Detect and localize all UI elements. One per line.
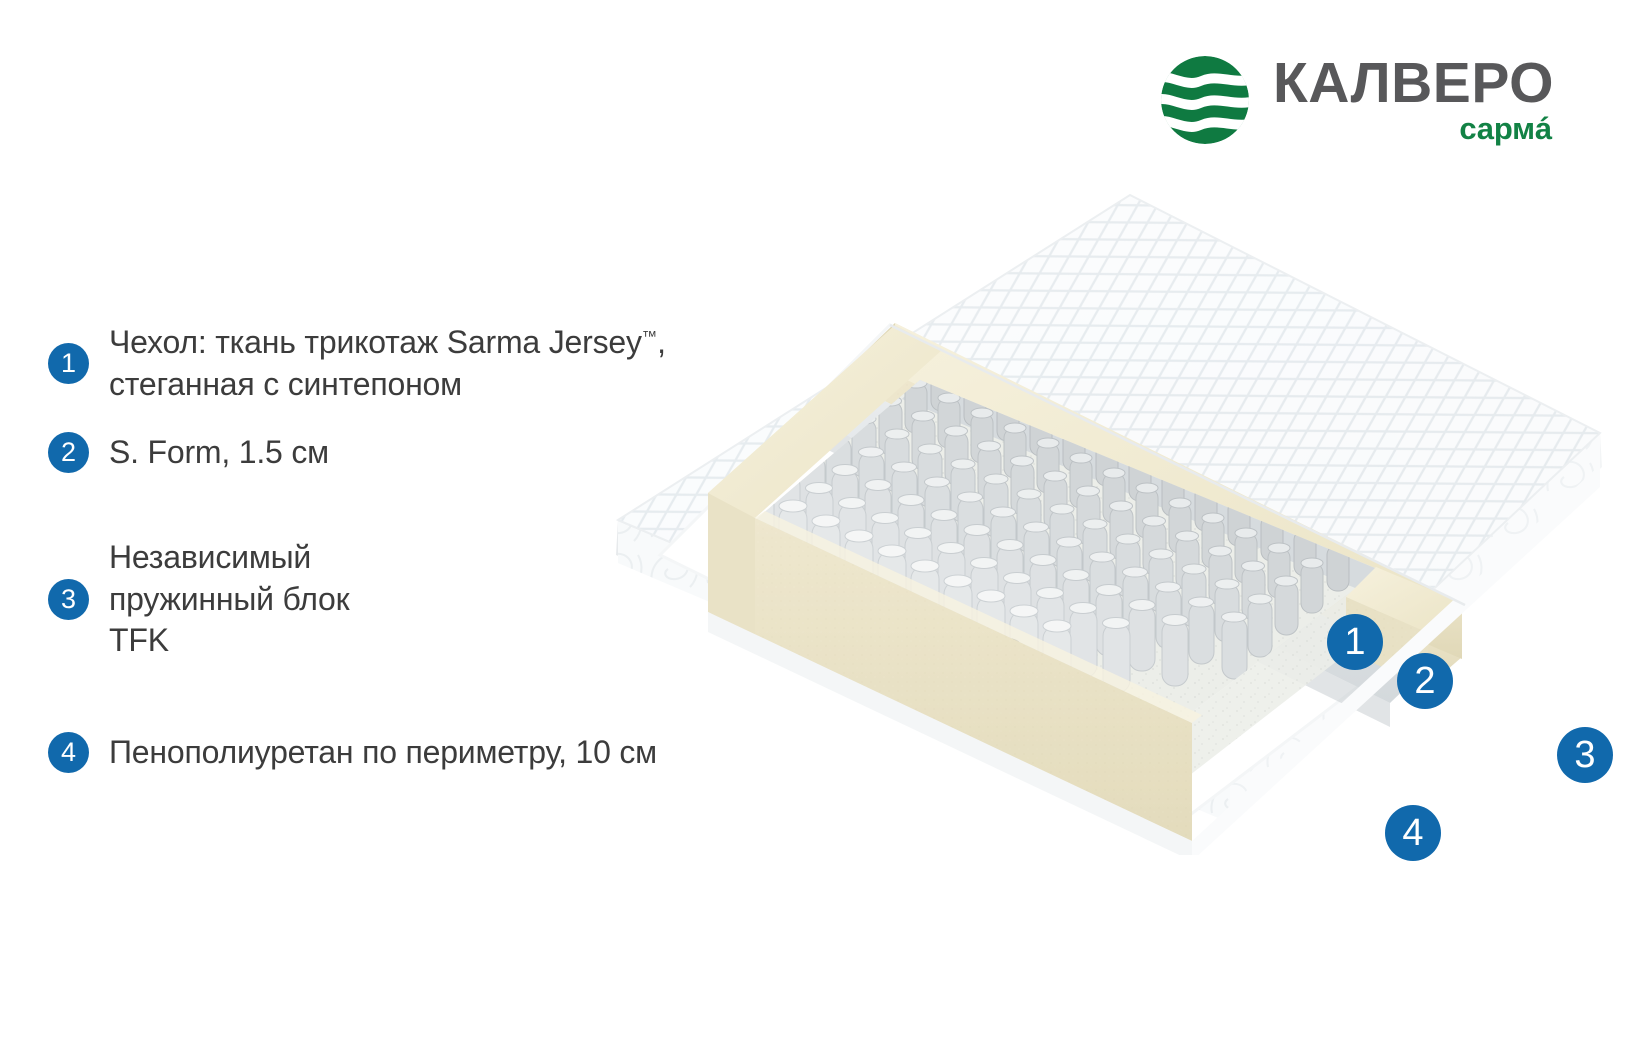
- logo-wordmark: КАЛВЕРО сармá: [1273, 56, 1554, 145]
- callout-badge-1: 1: [1327, 614, 1383, 670]
- legend-label-4: Пенополиуретан по периметру, 10 см: [109, 732, 657, 774]
- legend-item-4: 4 Пенополиуретан по периметру, 10 см: [48, 732, 657, 774]
- mattress-cutaway-illustration: 1 2 3 4: [590, 175, 1620, 855]
- callout-badge-2: 2: [1397, 653, 1453, 709]
- legend-badge-3: 3: [48, 579, 89, 620]
- legend-badge-4: 4: [48, 732, 89, 773]
- callout-badge-4: 4: [1385, 805, 1441, 861]
- mattress-cutaway-svg: [590, 175, 1620, 855]
- legend-label-3: Независимый пружинный блок TFK: [109, 537, 349, 662]
- legend-item-1: 1 Чехол: ткань трикотаж Sarma Jersey™,ст…: [48, 322, 666, 405]
- legend-label-2: S. Form, 1.5 см: [109, 432, 329, 474]
- company-sphere-waves-icon: [1155, 50, 1255, 150]
- logo-title: КАЛВЕРО: [1273, 56, 1554, 112]
- legend-label-1-text: Чехол: ткань трикотаж Sarma Jersey™,стег…: [109, 324, 666, 402]
- legend-badge-2: 2: [48, 432, 89, 473]
- callout-badge-3: 3: [1557, 727, 1613, 783]
- legend-label-1: Чехол: ткань трикотаж Sarma Jersey™,стег…: [109, 322, 666, 405]
- legend-item-3: 3 Независимый пружинный блок TFK: [48, 537, 349, 662]
- logo-subtitle: сармá: [1459, 113, 1552, 144]
- legend-badge-1: 1: [48, 343, 89, 384]
- brand-logo: КАЛВЕРО сармá: [1155, 50, 1554, 150]
- legend-item-2: 2 S. Form, 1.5 см: [48, 432, 329, 474]
